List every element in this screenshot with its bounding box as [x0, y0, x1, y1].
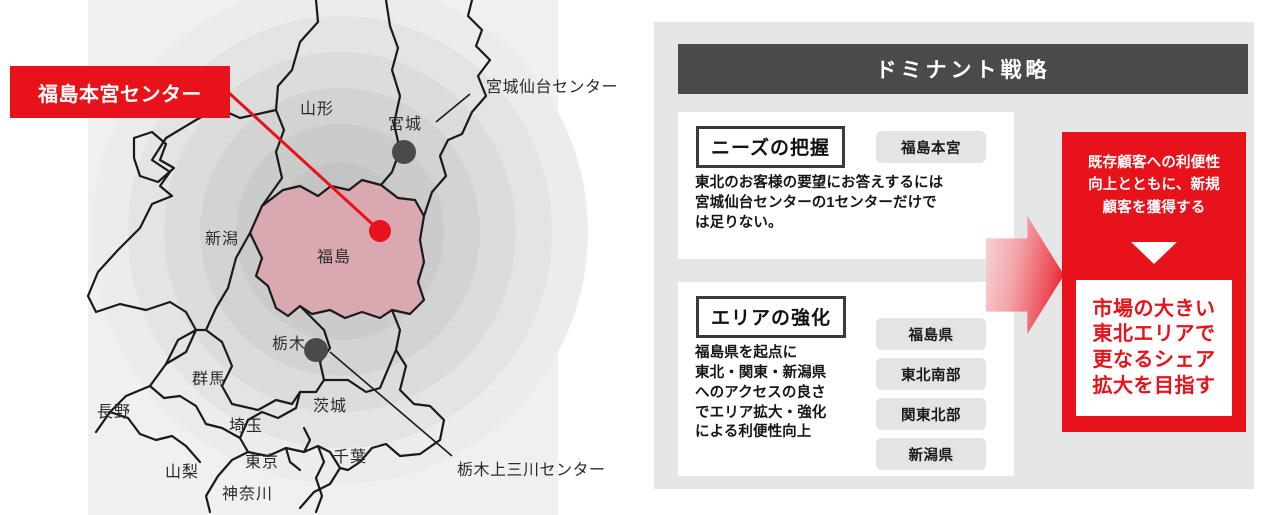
card-area-body: 福島県を起点に 東北・関東・新潟県 へのアクセスの良さ でエリア拡大・強化 によ… — [695, 344, 875, 443]
tag-fukushima-ken[interactable]: 福島県 — [876, 318, 986, 350]
card-needs-title: ニーズの把握 — [696, 126, 845, 168]
label-yamagata: 山形 — [300, 95, 334, 119]
label-miyagi: 宮城 — [388, 110, 422, 134]
label-yamanashi: 山梨 — [165, 458, 199, 482]
card-area: エリアの強化 福島県 東北南部 関東北部 新潟県 福島県を起点に 東北・関東・新… — [678, 282, 1014, 476]
tochigi-kaminokawa-center-marker — [304, 338, 328, 362]
conclusion-top-text: 既存顧客への利便性 向上とともに、新規 顧客を獲得する — [1068, 152, 1240, 219]
japan-map-panel: 福島本宮センター 宮城仙台センター 栃木上三川センター 山形 宮城 新潟 福島 … — [0, 0, 650, 515]
tag-niigata-ken[interactable]: 新潟県 — [876, 438, 986, 470]
tag-tohoku-south[interactable]: 東北南部 — [876, 358, 986, 390]
card-area-title: エリアの強化 — [696, 296, 846, 338]
conclusion-inner-box: 市場の大きい 東北エリアで 更なるシェア 拡大を目指す — [1076, 280, 1232, 416]
label-tochigi: 栃木 — [272, 330, 306, 354]
callout-label: 福島本宮センター — [38, 78, 202, 107]
miyagi-sendai-center-marker — [392, 140, 416, 164]
label-tochigi-kaminokawa-center: 栃木上三川センター — [457, 456, 606, 480]
dominant-strategy-panel: ドミナント戦略 ニーズの把握 福島本宮 東北のお客様の要望にお答えするには 宮城… — [654, 22, 1254, 489]
tag-fukushima-motomiya[interactable]: 福島本宮 — [876, 131, 986, 163]
strategy-header-bar: ドミナント戦略 — [678, 44, 1248, 94]
triangle-down-icon — [1131, 242, 1177, 264]
label-tokyo: 東京 — [245, 448, 279, 472]
conclusion-inner-text: 市場の大きい 東北エリアで 更なるシェア 拡大を目指す — [1093, 297, 1216, 399]
label-ibaraki: 茨城 — [313, 392, 347, 416]
label-miyagi-sendai-center: 宮城仙台センター — [486, 73, 618, 97]
label-fukushima: 福島 — [317, 243, 351, 267]
fukushima-motomiya-center-marker — [369, 220, 391, 242]
conclusion-box: 既存顧客への利便性 向上とともに、新規 顧客を獲得する 市場の大きい 東北エリア… — [1062, 132, 1246, 432]
tag-kanto-north[interactable]: 関東北部 — [876, 398, 986, 430]
label-kanagawa: 神奈川 — [222, 480, 273, 504]
label-gunma: 群馬 — [192, 365, 226, 389]
strategy-header-title: ドミナント戦略 — [876, 54, 1051, 84]
label-nagano: 長野 — [97, 398, 131, 422]
card-needs-body: 東北のお客様の要望にお答えするには 宮城仙台センターの1センターだけで は足りな… — [695, 174, 1005, 234]
card-needs: ニーズの把握 福島本宮 東北のお客様の要望にお答えするには 宮城仙台センターの1… — [678, 112, 1014, 259]
label-chiba: 千葉 — [333, 443, 367, 467]
label-niigata: 新潟 — [205, 225, 239, 249]
label-saitama: 埼玉 — [229, 412, 263, 436]
callout-fukushima-motomiya-center: 福島本宮センター — [10, 66, 230, 118]
